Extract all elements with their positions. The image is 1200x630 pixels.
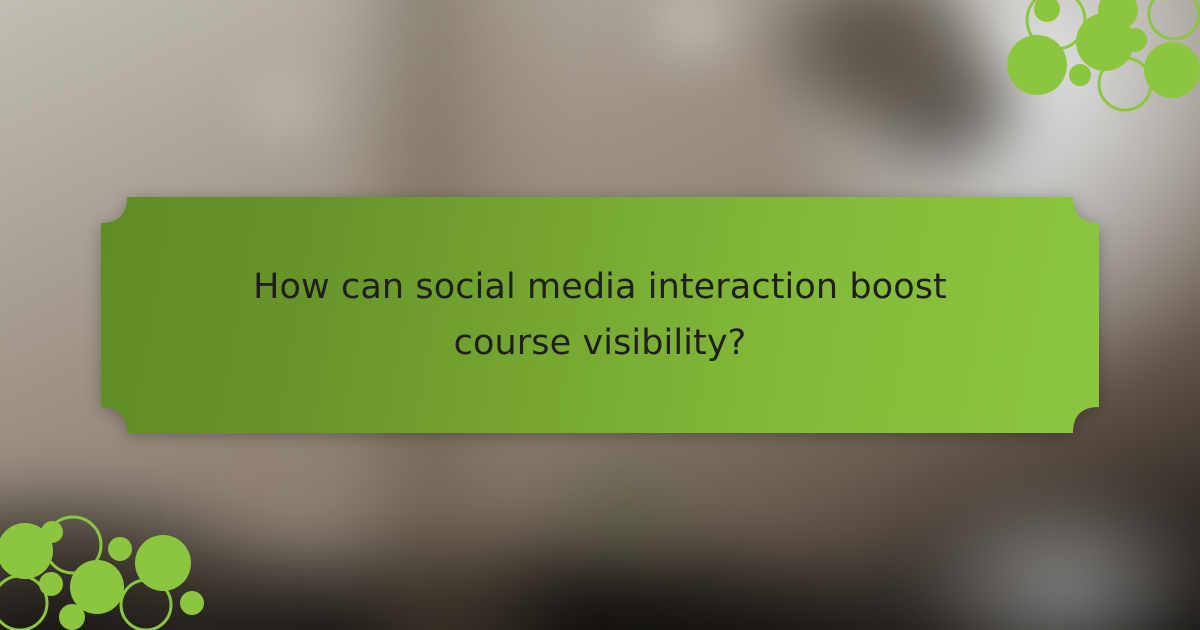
question-card: How can social media interaction boost c…: [101, 197, 1099, 433]
question-text: How can social media interaction boost c…: [240, 259, 960, 371]
promo-card-canvas: How can social media interaction boost c…: [0, 0, 1200, 630]
question-card-content: How can social media interaction boost c…: [101, 197, 1099, 433]
